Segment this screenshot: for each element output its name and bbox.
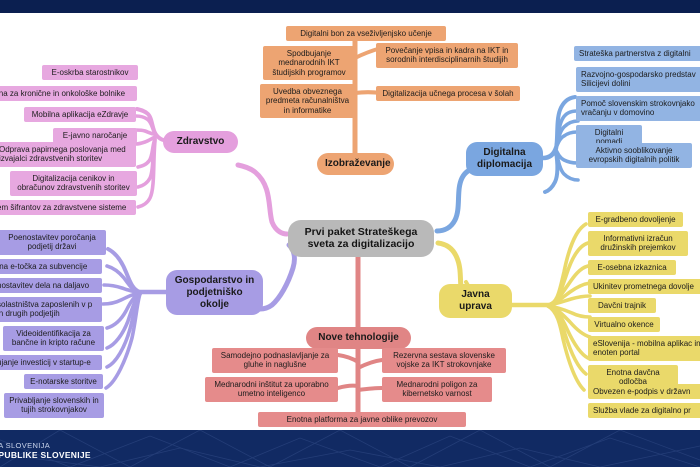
leaf-izobrazevanje-4[interactable]: Uvedba obveznega predmeta računalništva …	[260, 84, 355, 118]
leaf-gospodarstvo-2[interactable]: tna e-točka za subvencije	[0, 259, 102, 274]
center-node[interactable]: Prvi paket Strateškega sveta za digitali…	[288, 220, 434, 257]
footer-text: LIKA SLOVENIJA REPUBLIKE SLOVENIJE	[0, 441, 91, 461]
leaf-javna-uprava-7[interactable]: eSlovenija - mobilna aplikac in enoten p…	[588, 336, 700, 361]
leaf-zdravstvo-5[interactable]: Odprava papirnega poslovanja med izvajal…	[0, 142, 136, 167]
leaf-javna-uprava-5[interactable]: Davčni trajnik	[588, 298, 656, 313]
leaf-gospodarstvo-1[interactable]: Poenostavitev poročanja podjetij državi	[0, 230, 106, 255]
leaf-izobrazevanje-1[interactable]: Digitalni bon za vseživljenjsko učenje	[286, 26, 446, 41]
leaf-javna-uprava-1[interactable]: E-gradbeno dovoljenje	[588, 212, 683, 227]
mindmap-canvas: Prvi paket Strateškega sveta za digitali…	[0, 0, 700, 467]
leaf-gospodarstvo-5[interactable]: Videoidentifikacija za bančne in kripto …	[3, 326, 104, 351]
leaf-izobrazevanje-5[interactable]: Digitalizacija učnega procesa v šolah	[376, 86, 520, 101]
footer-line-1: LIKA SLOVENIJA	[0, 441, 91, 450]
leaf-zdravstvo-6[interactable]: Digitalizacija cenikov in obračunov zdra…	[10, 171, 137, 196]
leaf-nove-tehnologije-1[interactable]: Samodejno podnaslavljanje za gluhe in na…	[212, 348, 338, 373]
leaf-digitalna-diplomacija-5[interactable]: Aktivno sooblikovanje evropskih digitaln…	[576, 143, 692, 168]
leaf-nove-tehnologije-4[interactable]: Mednarodni poligon za kibernetsko varnos…	[382, 377, 492, 402]
footer-line-2: REPUBLIKE SLOVENIJE	[0, 450, 91, 461]
leaf-gospodarstvo-8[interactable]: Privabljanje slovenskih in tujih strokov…	[4, 393, 104, 418]
leaf-izobrazevanje-2[interactable]: Spodbujanje mednarodnih IKT študijskih p…	[263, 46, 355, 80]
leaf-nove-tehnologije-5[interactable]: Enotna platforma za javne oblike prevozo…	[258, 412, 466, 427]
branch-nove-tehnologije[interactable]: Nove tehnologije	[306, 327, 411, 349]
leaf-nove-tehnologije-3[interactable]: Mednarodni inštitut za uporabno umetno i…	[205, 377, 338, 402]
leaf-zdravstvo-3[interactable]: Mobilna aplikacija eZdravje	[24, 107, 136, 122]
leaf-javna-uprava-4[interactable]: Ukinitev prometnega dovolje	[588, 279, 700, 294]
leaf-gospodarstvo-7[interactable]: E-notarske storitve	[24, 374, 103, 389]
leaf-javna-uprava-9[interactable]: Obvezen e-podpis v državn	[588, 384, 700, 399]
footer-mesh-decoration	[0, 430, 700, 467]
leaf-gospodarstvo-4[interactable]: solastništva zaposlenih v p in drugih po…	[0, 297, 102, 322]
branch-digitalna-diplomacija[interactable]: Digitalna diplomacija	[466, 142, 543, 176]
branch-javna-uprava[interactable]: Javna uprava	[439, 284, 512, 318]
branch-izobrazevanje[interactable]: Izobraževanje	[317, 153, 394, 175]
footer-bar: LIKA SLOVENIJA REPUBLIKE SLOVENIJE	[0, 430, 700, 467]
leaf-javna-uprava-10[interactable]: Služba vlade za digitalno pr	[588, 403, 700, 418]
leaf-javna-uprava-6[interactable]: Virtualno okence	[588, 317, 660, 332]
leaf-zdravstvo-1[interactable]: E-oskrba starostnikov	[42, 65, 138, 80]
leaf-javna-uprava-3[interactable]: E-osebna izkaznica	[588, 260, 676, 275]
leaf-gospodarstvo-3[interactable]: nostavitev dela na daljavo	[0, 278, 102, 293]
leaf-zdravstvo-2[interactable]: ina za kronične in onkološke bolnike	[0, 86, 137, 101]
leaf-digitalna-diplomacija-3[interactable]: Pomoč slovenskim strokovnjako vračanju v…	[576, 96, 700, 121]
leaf-nove-tehnologije-2[interactable]: Rezervna sestava slovenske vojske za IKT…	[382, 348, 506, 373]
branch-zdravstvo[interactable]: Zdravstvo	[163, 131, 238, 153]
top-bar	[0, 0, 700, 13]
leaf-izobrazevanje-3[interactable]: Povečanje vpisa in kadra na IKT in sorod…	[376, 43, 518, 68]
branch-gospodarstvo[interactable]: Gospodarstvo in podjetniško okolje	[166, 270, 263, 315]
leaf-digitalna-diplomacija-2[interactable]: Razvojno-gospodarsko predstav Silicijevi…	[576, 67, 700, 92]
leaf-digitalna-diplomacija-1[interactable]: Strateška partnerstva z digitalni	[574, 46, 700, 61]
leaf-gospodarstvo-6[interactable]: ujanje investicij v startup-e	[0, 355, 102, 370]
leaf-zdravstvo-7[interactable]: em šifrantov za zdravstvene sisteme	[0, 200, 136, 215]
leaf-javna-uprava-2[interactable]: Informativni izračun družinskih prejemko…	[588, 231, 688, 256]
